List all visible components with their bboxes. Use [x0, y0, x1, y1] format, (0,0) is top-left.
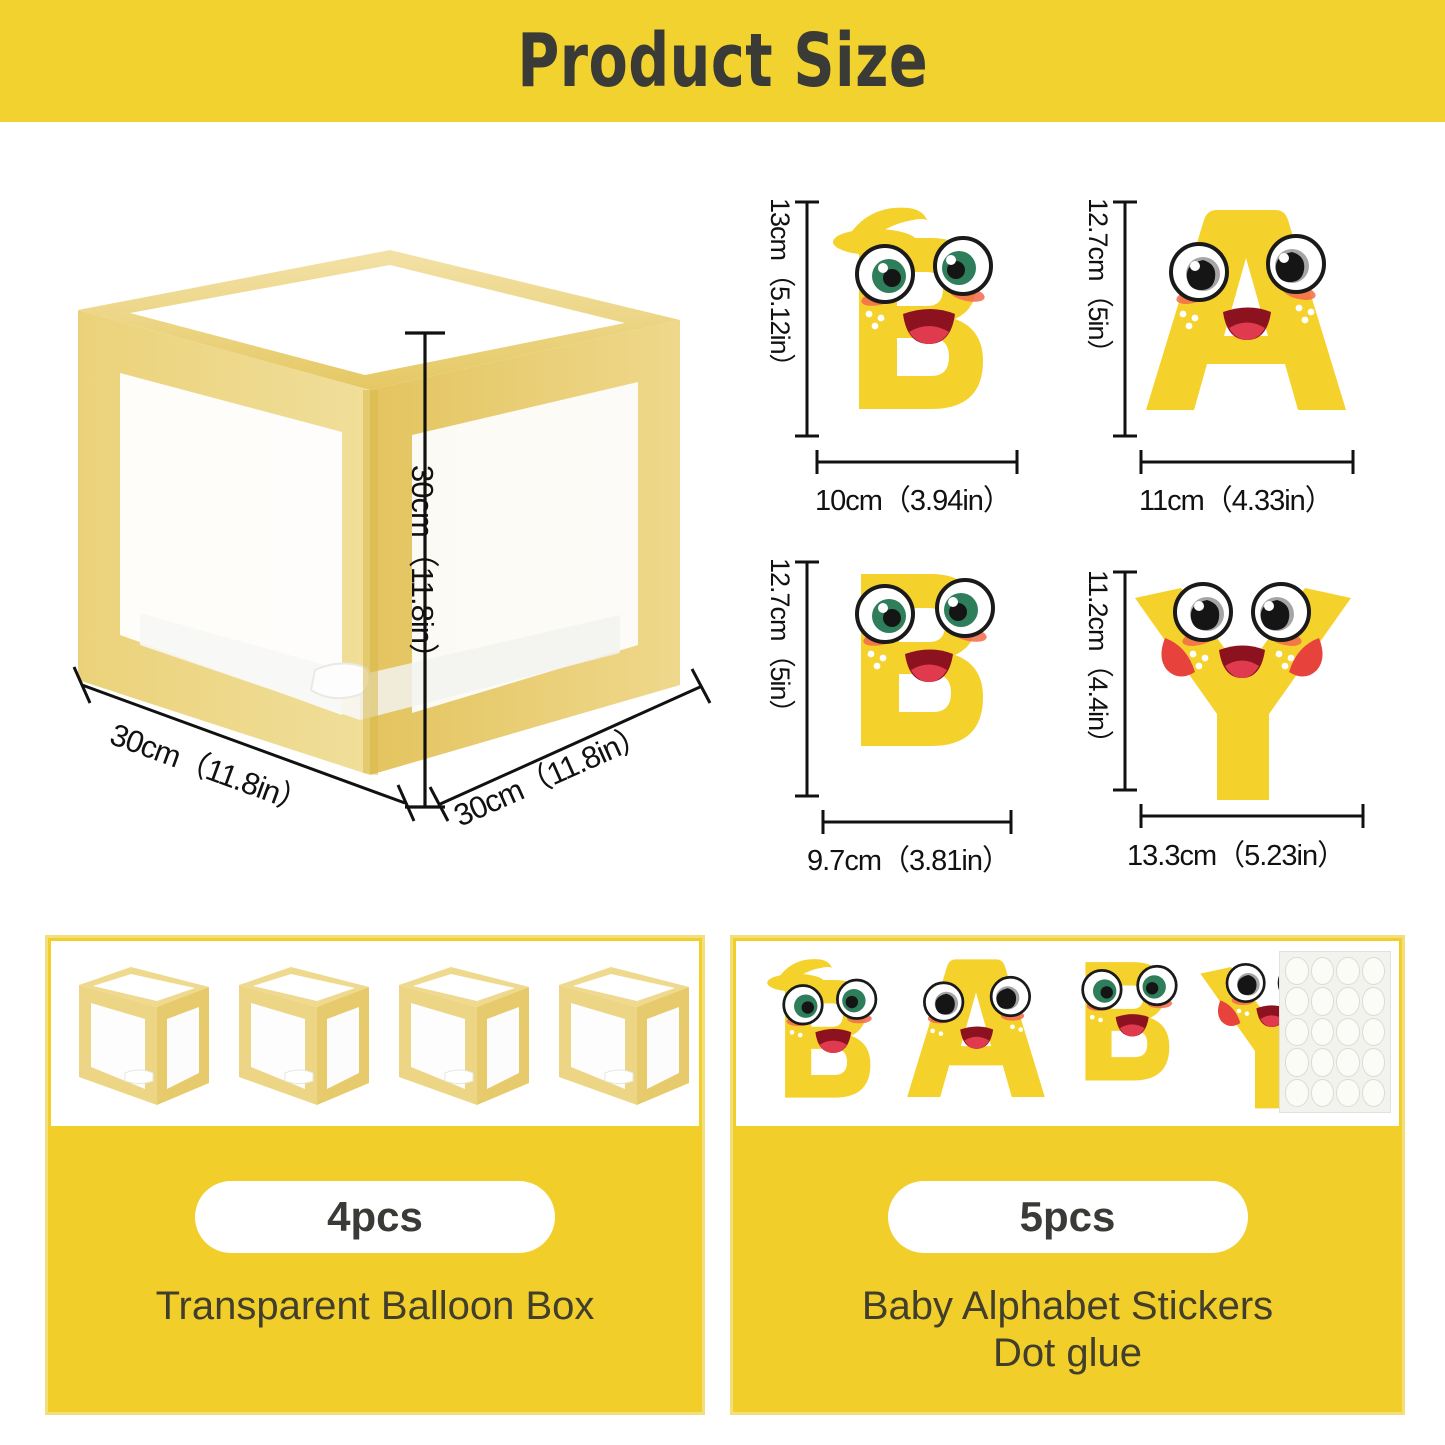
page-title: Product Size — [517, 18, 928, 104]
panel-alphabet-stickers: 5pcs Baby Alphabet Stickers Dot glue — [730, 935, 1405, 1415]
mini-box-1 — [69, 955, 219, 1115]
count-badge-5pcs: 5pcs — [888, 1181, 1248, 1253]
dot-glue-sheet — [1279, 951, 1391, 1113]
letter-cell-b-hat: 13cm（5.12in） 10cm（3.94in） — [745, 180, 1065, 510]
letter-y-dimension-lines — [1063, 540, 1393, 840]
letter-b-hat-dimension-lines — [745, 180, 1065, 480]
header-banner: Product Size — [0, 0, 1445, 122]
letter-b-hat-width-label: 10cm（3.94in） — [815, 477, 1011, 519]
letter-b-width-label: 9.7cm（3.81in） — [807, 837, 1010, 879]
letter-cell-b: 12.7cm（5in） 9.7cm（3.81in） — [745, 540, 1065, 870]
box-3d-illustration: 30cm（11.8in） 30cm（11.8in） 30cm（11.8in） — [60, 215, 720, 865]
letter-cell-a: 12.7cm（5in） 11cm（4.33in） — [1063, 180, 1383, 510]
mini-box-2 — [229, 955, 379, 1115]
letter-a-dimension-lines — [1063, 180, 1383, 480]
letter-a-width-label: 11cm（4.33in） — [1139, 477, 1333, 519]
balloon-box-photo-strip — [51, 941, 699, 1126]
balloon-box-figure: 30cm（11.8in） 30cm（11.8in） 30cm（11.8in） — [60, 215, 720, 865]
caption-line-1: Baby Alphabet Stickers — [743, 1283, 1392, 1330]
dimension-height-label: 30cm（11.8in） — [405, 465, 440, 673]
caption-line-1: Transparent Balloon Box — [58, 1283, 692, 1330]
mini-box-3 — [389, 955, 539, 1115]
sticker-b — [1056, 947, 1196, 1119]
panel-caption-balloon-box: Transparent Balloon Box — [48, 1283, 702, 1330]
caption-line-2: Dot glue — [743, 1330, 1392, 1377]
letter-b-dimension-lines — [745, 540, 1065, 840]
mini-box-4 — [549, 955, 699, 1115]
sticker-a — [901, 947, 1051, 1119]
letter-y-width-label: 13.3cm（5.23in） — [1127, 832, 1345, 874]
letter-cell-y: 11.2cm（4.4in） 13.3cm（5.23in） — [1063, 540, 1383, 870]
letter-sticker-grid: 13cm（5.12in） 10cm（3.94in） — [745, 180, 1410, 880]
sticker-b-hat — [750, 947, 900, 1119]
panel-caption-alphabet-stickers: Baby Alphabet Stickers Dot glue — [733, 1283, 1402, 1377]
count-badge-4pcs: 4pcs — [195, 1181, 555, 1253]
product-size-infographic: Product Size — [0, 0, 1445, 1445]
alphabet-sticker-photo-strip — [736, 941, 1399, 1126]
panel-transparent-balloon-box: 4pcs Transparent Balloon Box — [45, 935, 705, 1415]
